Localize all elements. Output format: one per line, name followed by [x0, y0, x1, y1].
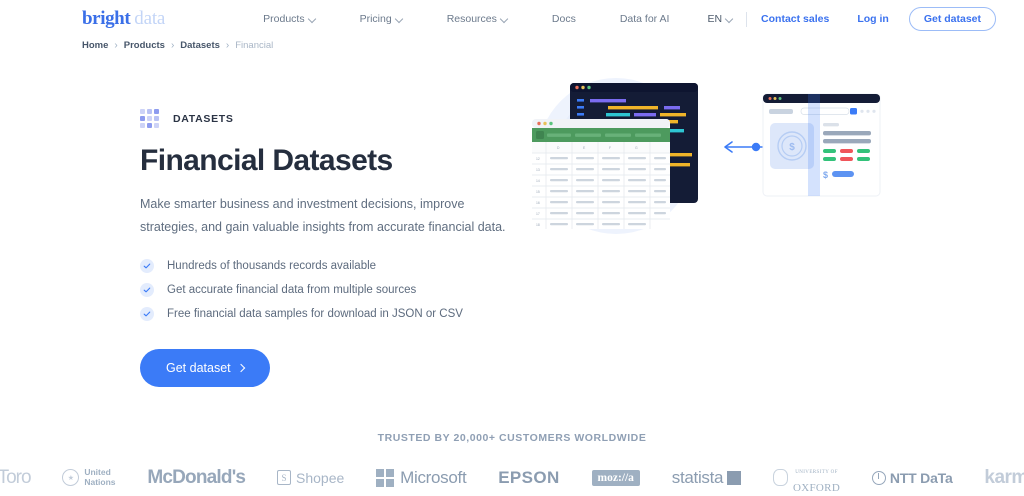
- logo-oxford: UNIVERSITY OF OXFORD: [773, 460, 840, 496]
- logo-etoro: eToro: [0, 467, 31, 489]
- nav-item-label: Docs: [552, 13, 576, 25]
- get-dataset-nav-button[interactable]: Get dataset: [909, 7, 996, 31]
- brand-logo[interactable]: bright data: [82, 8, 165, 30]
- customer-logo-strip: eToro ★ United Nations McDonald's S Shop…: [0, 460, 1024, 495]
- logo-microsoft: Microsoft: [376, 468, 466, 488]
- feature-label: Get accurate financial data from multipl…: [167, 284, 416, 296]
- language-selector[interactable]: EN: [707, 13, 746, 25]
- microsoft-wordmark: Microsoft: [400, 468, 466, 488]
- logo-united-nations: ★ United Nations: [62, 468, 115, 487]
- breadcrumb-item-products[interactable]: Products: [124, 40, 165, 51]
- statista-wordmark: statista: [672, 468, 723, 488]
- breadcrumb-separator-icon: ›: [226, 40, 229, 51]
- nav-item-docs[interactable]: Docs: [530, 13, 598, 25]
- hero-illustration: DE FG 1213 1415 1617 18: [520, 61, 920, 261]
- cta-label: Get dataset: [166, 361, 231, 375]
- svg-text:16: 16: [536, 201, 540, 205]
- logo-epson: EPSON: [498, 468, 560, 488]
- oxford-wordmark: UNIVERSITY OF OXFORD: [793, 460, 840, 496]
- logo-mozilla: moz://a: [592, 470, 640, 486]
- feature-item: Free financial data samples for download…: [140, 307, 520, 321]
- feature-label: Free financial data samples for download…: [167, 308, 463, 320]
- un-wordmark: United Nations: [84, 468, 115, 487]
- svg-text:12: 12: [536, 157, 540, 161]
- nav-item-data-for-ai[interactable]: Data for AI: [598, 13, 692, 25]
- hero-section: DATASETS Financial Datasets Make smarter…: [0, 51, 1024, 387]
- nav-item-label: Data for AI: [620, 13, 670, 25]
- nav-item-products[interactable]: Products: [241, 13, 337, 25]
- logo-statista: statista: [672, 468, 741, 488]
- hero-eyebrow-label: DATASETS: [173, 113, 234, 125]
- oxford-line-1: UNIVERSITY OF: [795, 470, 838, 475]
- hero-subtitle: Make smarter business and investment dec…: [140, 193, 510, 239]
- etoro-wordmark: eToro: [0, 467, 31, 489]
- hero-content: DATASETS Financial Datasets Make smarter…: [140, 109, 520, 387]
- oxford-line-2: OXFORD: [793, 482, 840, 494]
- grid-icon: [140, 109, 159, 128]
- hero-eyebrow: DATASETS: [140, 109, 520, 128]
- chevron-down-icon: [396, 15, 403, 22]
- breadcrumb: Home › Products › Datasets › Financial: [0, 38, 1024, 51]
- ntt-power-icon: [872, 471, 886, 485]
- feature-label: Hundreds of thousands records available: [167, 260, 376, 272]
- breadcrumb-item-current: Financial: [235, 40, 273, 51]
- nav-item-resources[interactable]: Resources: [425, 13, 530, 25]
- svg-text:G: G: [635, 146, 638, 150]
- shopee-bag-icon: S: [277, 470, 291, 485]
- un-emblem-icon: ★: [62, 469, 79, 486]
- breadcrumb-item-home[interactable]: Home: [82, 40, 108, 51]
- get-dataset-cta-button[interactable]: Get dataset: [140, 349, 270, 387]
- shopee-wordmark: Shopee: [296, 470, 344, 486]
- logo-text-bright: bright: [82, 8, 130, 30]
- oxford-crest-icon: [773, 469, 788, 486]
- logo-ntt-data: NTT DaTa: [872, 470, 953, 486]
- svg-text:13: 13: [536, 168, 540, 172]
- microsoft-squares-icon: [376, 469, 394, 487]
- check-icon: [140, 307, 154, 321]
- svg-text:$: $: [789, 142, 795, 153]
- svg-text:18: 18: [536, 223, 540, 227]
- breadcrumb-separator-icon: ›: [171, 40, 174, 51]
- chevron-down-icon: [501, 15, 508, 22]
- nav-item-pricing[interactable]: Pricing: [338, 13, 425, 25]
- nav-item-label: Products: [263, 13, 304, 25]
- ntt-wordmark: NTT DaTa: [890, 470, 953, 486]
- trusted-headline: TRUSTED BY 20,000+ CUSTOMERS WORLDWIDE: [0, 432, 1024, 444]
- page-title: Financial Datasets: [140, 144, 520, 177]
- nav-item-label: Pricing: [360, 13, 392, 25]
- epson-wordmark: EPSON: [498, 468, 560, 488]
- svg-text:F: F: [609, 146, 611, 150]
- contact-sales-link[interactable]: Contact sales: [747, 13, 843, 25]
- un-line-2: Nations: [84, 477, 115, 487]
- logo-karma: karma: [984, 467, 1024, 489]
- login-link[interactable]: Log in: [843, 13, 903, 25]
- chevron-down-icon: [726, 15, 733, 22]
- breadcrumb-item-datasets[interactable]: Datasets: [180, 40, 220, 51]
- check-icon: [140, 259, 154, 273]
- breadcrumb-separator-icon: ›: [114, 40, 117, 51]
- svg-text:$: $: [823, 170, 828, 180]
- svg-text:15: 15: [536, 190, 540, 194]
- statista-mark-icon: [727, 471, 741, 485]
- top-navigation-bar: bright data Products Pricing Resources D…: [0, 0, 1024, 38]
- mcdonalds-wordmark: McDonald's: [147, 467, 245, 489]
- karma-wordmark: karma: [984, 467, 1024, 489]
- logo-shopee: S Shopee: [277, 470, 344, 486]
- check-icon: [140, 283, 154, 297]
- chevron-right-icon: [236, 364, 244, 372]
- nav-item-label: Resources: [447, 13, 497, 25]
- feature-item: Hundreds of thousands records available: [140, 259, 520, 273]
- svg-text:14: 14: [536, 179, 540, 183]
- main-nav-links: Products Pricing Resources Docs Data for…: [241, 13, 691, 25]
- svg-text:17: 17: [536, 212, 540, 216]
- chevron-down-icon: [309, 15, 316, 22]
- logo-mcdonalds: McDonald's: [147, 467, 245, 489]
- logo-text-data: data: [134, 8, 165, 30]
- feature-item: Get accurate financial data from multipl…: [140, 283, 520, 297]
- nav-actions: EN Contact sales Log in Get dataset: [707, 7, 996, 31]
- language-label: EN: [707, 13, 722, 25]
- datasets-illustration-svg: DE FG 1213 1415 1617 18: [520, 61, 920, 261]
- mozilla-wordmark: moz://a: [592, 470, 640, 486]
